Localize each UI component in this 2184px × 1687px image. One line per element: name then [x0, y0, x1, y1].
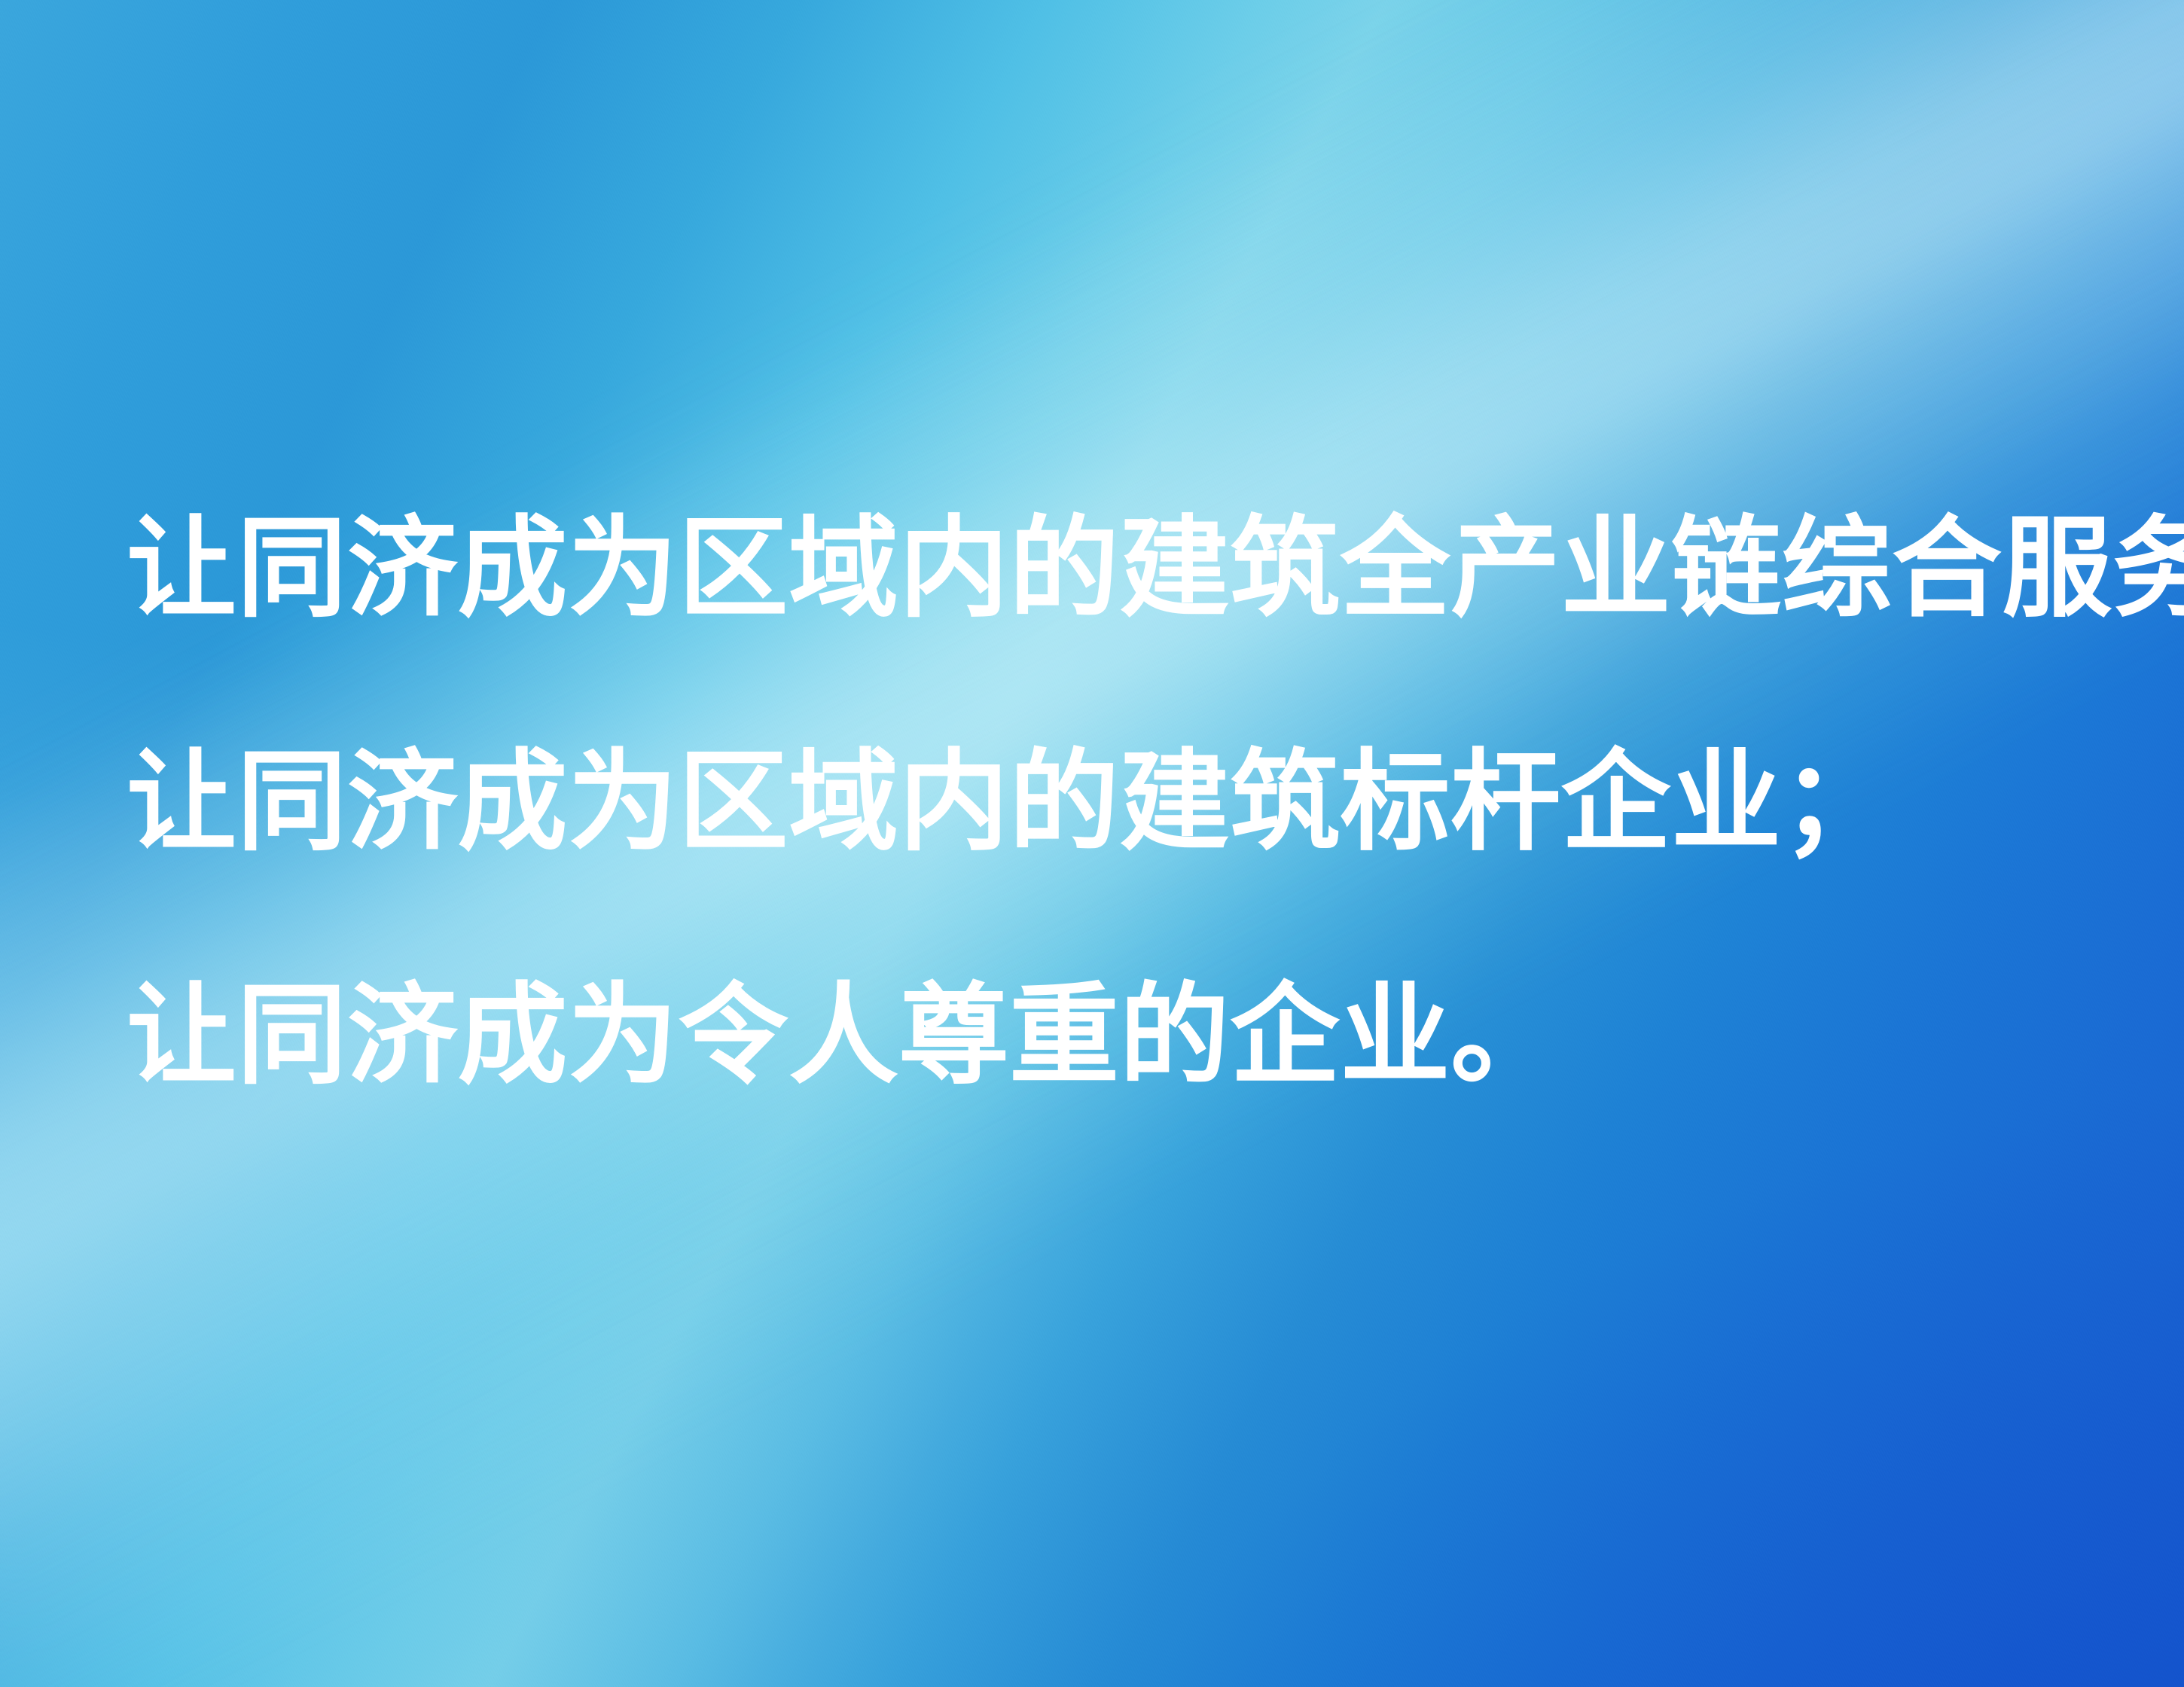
- slide-text-block: 让同济成为区域内的建筑全产业链综合服务商； 让同济成为区域内的建筑标杆企业； 让…: [127, 452, 2085, 1152]
- slide-line-2: 让同济成为区域内的建筑标杆企业；: [127, 685, 2085, 919]
- slide-line-3: 让同济成为令人尊重的企业。: [127, 919, 2085, 1152]
- presentation-slide: 让同济成为区域内的建筑全产业链综合服务商； 让同济成为区域内的建筑标杆企业； 让…: [0, 0, 2184, 1687]
- slide-line-1: 让同济成为区域内的建筑全产业链综合服务商；: [127, 452, 2085, 685]
